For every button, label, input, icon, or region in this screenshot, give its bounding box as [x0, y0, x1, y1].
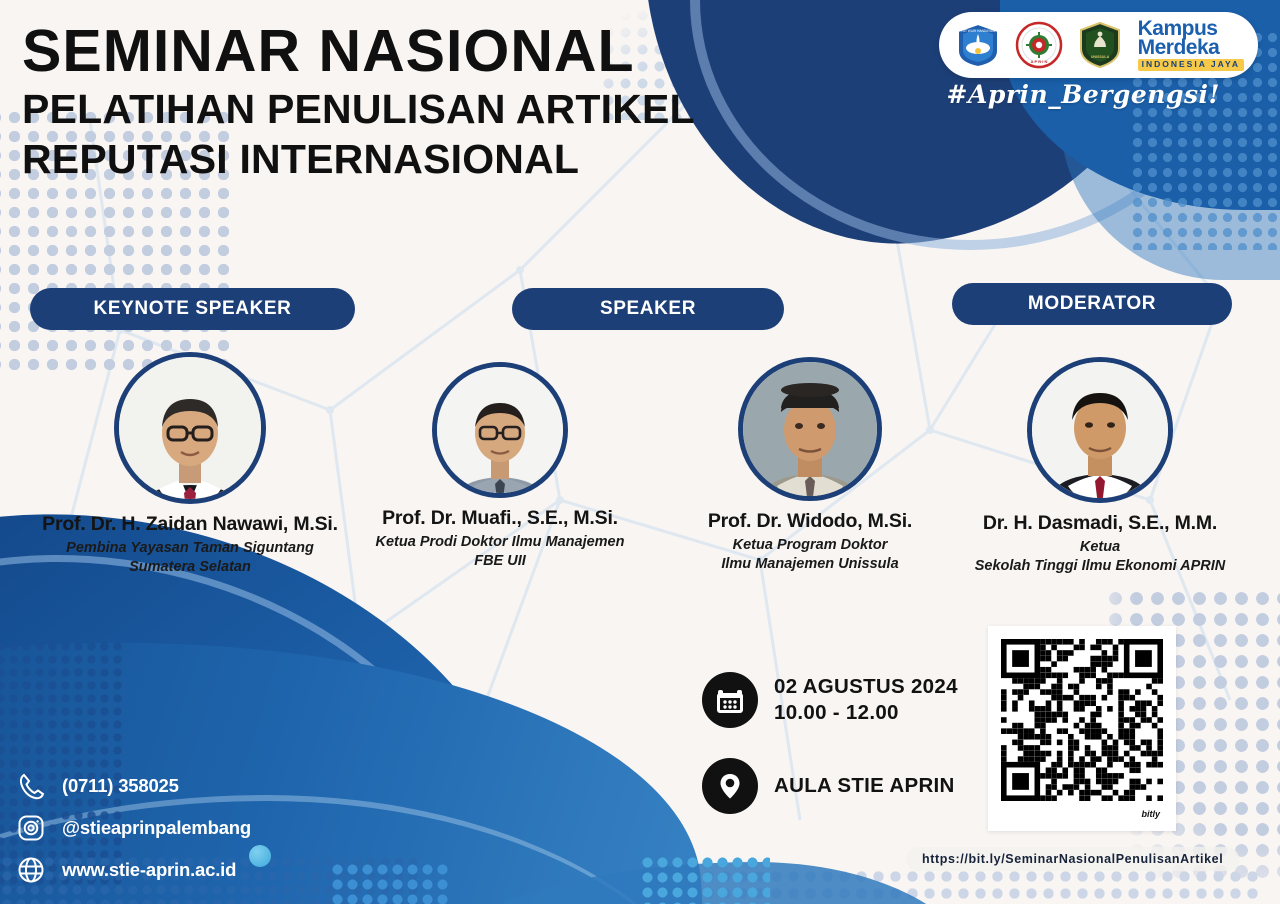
svg-text:UNISSULA: UNISSULA: [1090, 55, 1109, 59]
hashtag-text: #Aprin_Bergengsi!: [947, 80, 1220, 109]
phone-number: (0711) 358025: [62, 775, 179, 797]
location-pin-icon: [702, 758, 758, 814]
registration-url[interactable]: https://bit.ly/SeminarNasionalPenulisanA…: [906, 847, 1239, 871]
contact-instagram[interactable]: @stieaprinpalembang: [14, 807, 251, 849]
event-datetime-text: 02 AGUSTUS 2024 10.00 - 12.00: [774, 674, 958, 726]
role-pill-speaker: SPEAKER: [512, 288, 784, 330]
person-card-speaker-1: Prof. Dr. Muafi., S.E., M.Si. Ketua Prod…: [345, 362, 655, 571]
person-role: Pembina Yayasan Taman Siguntang Sumatera…: [0, 539, 385, 577]
person-role-line2: Sekolah Tinggi Ilmu Ekonomi APRIN: [975, 558, 1226, 574]
event-date: 02 AGUSTUS 2024: [774, 674, 958, 700]
kampus-merdeka-line2: Merdeka: [1138, 38, 1244, 57]
instagram-handle: @stieaprinpalembang: [62, 817, 251, 839]
small-blue-ball-decoration: [249, 845, 271, 867]
person-role: Ketua Prodi Doktor Ilmu Manajemen FBE UI…: [345, 533, 655, 571]
event-location: AULA STIE APRIN: [774, 773, 955, 799]
phone-icon: [14, 769, 48, 803]
person-name: Prof. Dr. H. Zaidan Nawawi, M.Si.: [0, 513, 385, 536]
title-line-3: REPUTASI INTERNASIONAL: [22, 134, 695, 184]
person-role-line2: Sumatera Selatan: [129, 559, 251, 575]
svg-text:A P R I N: A P R I N: [1030, 59, 1047, 64]
person-role-line1: Ketua: [1080, 539, 1120, 555]
aprin-logo: A P R I N: [1014, 20, 1064, 70]
instagram-icon: [14, 811, 48, 845]
person-name: Dr. H. Dasmadi, S.E., M.M.: [935, 512, 1265, 535]
person-card-speaker-2: Prof. Dr. Widodo, M.Si. Ketua Program Do…: [650, 357, 970, 574]
person-card-moderator: Dr. H. Dasmadi, S.E., M.M. Ketua Sekolah…: [935, 357, 1265, 576]
person-role: Ketua Program Doktor Ilmu Manajemen Unis…: [650, 536, 970, 574]
calendar-icon: [702, 672, 758, 728]
seminar-poster: SEMINAR NASIONAL PELATIHAN PENULISAN ART…: [0, 0, 1280, 904]
title-line-1: SEMINAR NASIONAL: [22, 18, 695, 84]
person-role-line1: Pembina Yayasan Taman Siguntang: [66, 540, 314, 556]
person-name: Prof. Dr. Widodo, M.Si.: [650, 510, 970, 533]
halftone-dots-bottom-a: [330, 862, 450, 904]
globe-icon: [14, 853, 48, 887]
event-location-text: AULA STIE APRIN: [774, 773, 955, 799]
unissula-logo: UNISSULA: [1075, 20, 1125, 70]
poster-title: SEMINAR NASIONAL PELATIHAN PENULISAN ART…: [22, 18, 695, 184]
contact-website[interactable]: www.stie-aprin.ac.id: [14, 849, 251, 891]
kampus-merdeka-logo: Kampus Merdeka INDONESIA JAYA: [1136, 19, 1244, 71]
tut-wuri-handayani-logo: TUT WURI HANDAYANI: [953, 20, 1003, 70]
avatar: [1027, 357, 1173, 503]
person-role-line1: Ketua Program Doktor: [733, 537, 888, 553]
person-role-line2: FBE UII: [474, 553, 526, 569]
avatar: [738, 357, 882, 501]
halftone-dots-bottom-b: [640, 855, 770, 904]
person-role: Ketua Sekolah Tinggi Ilmu Ekonomi APRIN: [935, 538, 1265, 576]
qr-brand-label: bitly: [1141, 809, 1160, 819]
kampus-merdeka-tagline: INDONESIA JAYA: [1138, 59, 1244, 71]
contact-phone[interactable]: (0711) 358025: [14, 765, 251, 807]
website-url: www.stie-aprin.ac.id: [62, 859, 236, 881]
person-name: Prof. Dr. Muafi., S.E., M.Si.: [345, 507, 655, 530]
person-card-keynote: Prof. Dr. H. Zaidan Nawawi, M.Si. Pembin…: [0, 352, 385, 577]
contact-list: (0711) 358025 @stieaprinpalembang: [14, 765, 251, 891]
logo-bar: TUT WURI HANDAYANI A P R I N: [939, 12, 1258, 78]
title-line-2: PELATIHAN PENULISAN ARTIKEL: [22, 84, 695, 134]
qr-code-image[interactable]: [1001, 639, 1163, 801]
person-role-line2: Ilmu Manajemen Unissula: [721, 556, 898, 572]
svg-text:TUT WURI HANDAYANI: TUT WURI HANDAYANI: [960, 29, 995, 33]
role-pill-moderator: MODERATOR: [952, 283, 1232, 325]
qr-code-card[interactable]: bitly: [988, 626, 1176, 831]
event-time: 10.00 - 12.00: [774, 700, 958, 726]
avatar: [114, 352, 266, 504]
event-location-block: AULA STIE APRIN: [702, 758, 955, 814]
role-pill-keynote-speaker: KEYNOTE SPEAKER: [30, 288, 355, 330]
event-datetime-block: 02 AGUSTUS 2024 10.00 - 12.00: [702, 672, 958, 728]
avatar: [432, 362, 568, 498]
person-role-line1: Ketua Prodi Doktor Ilmu Manajemen: [376, 534, 625, 550]
